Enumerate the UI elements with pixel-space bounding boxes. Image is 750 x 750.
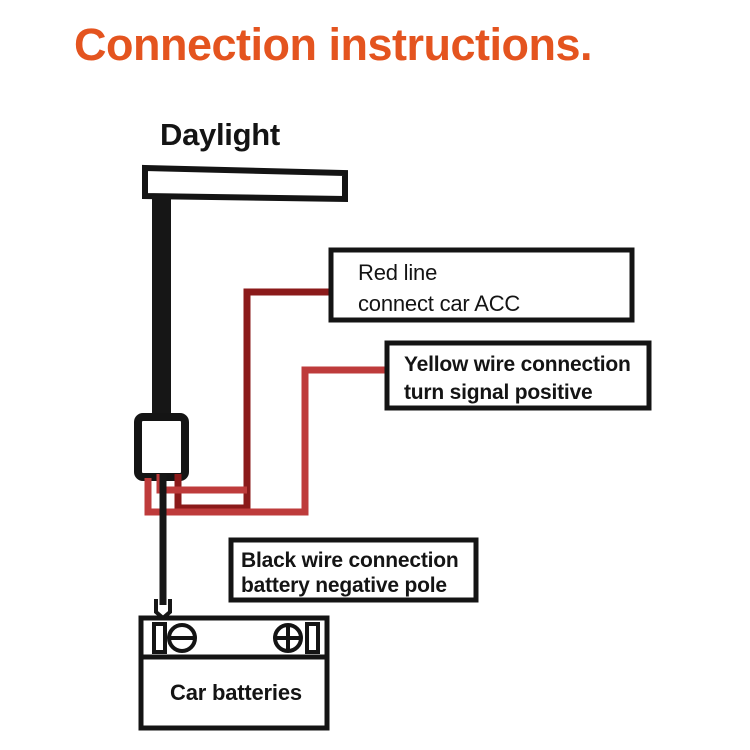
red-acc-wire bbox=[178, 292, 332, 508]
battery-positive-terminal bbox=[275, 625, 301, 651]
callout-black-negative: Black wire connection battery negative p… bbox=[231, 540, 476, 600]
callout-red-acc: Red line connect car ACC bbox=[331, 250, 632, 320]
daylight-lamp-bar bbox=[145, 168, 345, 199]
callout-black-negative-line1: Black wire connection bbox=[241, 549, 459, 572]
callout-yellow-signal-line1: Yellow wire connection bbox=[404, 353, 631, 376]
callout-red-acc-line2: connect car ACC bbox=[358, 291, 520, 316]
car-battery: Car batteries bbox=[141, 618, 327, 728]
callout-black-negative-line2: battery negative pole bbox=[241, 574, 447, 597]
battery-vent-cap-right bbox=[307, 624, 318, 652]
black-negative-wire bbox=[156, 474, 170, 618]
red-acc-wire-path bbox=[178, 292, 332, 508]
battery-negative-terminal bbox=[169, 625, 195, 651]
battery-vent-cap-left bbox=[154, 624, 165, 652]
callout-yellow-signal-line2: turn signal positive bbox=[404, 381, 593, 404]
battery-label: Car batteries bbox=[170, 680, 302, 705]
callout-red-acc-line1: Red line bbox=[358, 260, 437, 285]
connector-body bbox=[138, 417, 185, 477]
callout-yellow-signal: Yellow wire connection turn signal posit… bbox=[387, 343, 649, 408]
lamp-main-cable bbox=[152, 196, 171, 418]
daylight-label: Daylight bbox=[160, 117, 280, 152]
wire-connector-box bbox=[138, 417, 185, 477]
connection-instructions-diagram: Connection instructions. Daylight bbox=[0, 0, 750, 750]
diagram-canvas: Connection instructions. Daylight bbox=[0, 0, 750, 750]
page-title: Connection instructions. bbox=[74, 19, 592, 70]
lamp-body bbox=[145, 168, 345, 199]
main-cable-segment bbox=[152, 196, 171, 418]
